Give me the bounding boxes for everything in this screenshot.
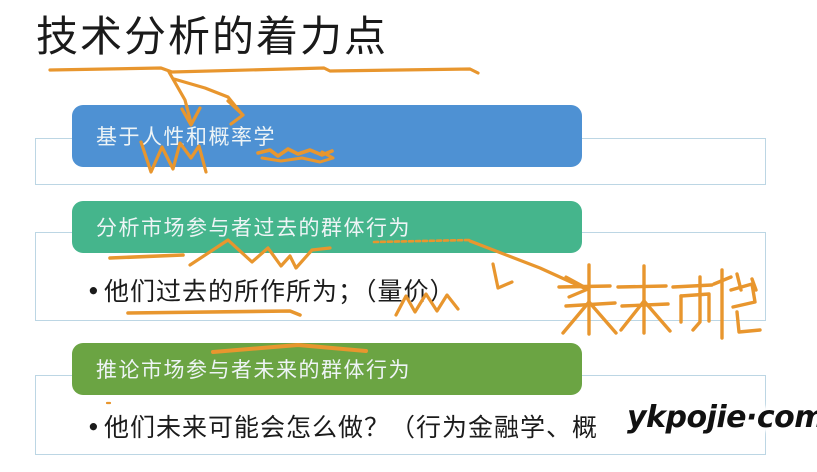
bullet-glyph: •	[86, 413, 104, 442]
page-title: 技术分析的着力点	[36, 10, 388, 64]
bullet-text-2: 他们未来可能会怎么做？（行为金融学、概	[104, 413, 598, 442]
bullet-item-2: •他们未来可能会怎么做？（行为金融学、概	[86, 408, 598, 444]
bullet-item-1: •他们过去的所作所为；（量价）	[86, 272, 456, 308]
banner-block-3: 推论市场参与者未来的群体行为	[72, 343, 582, 395]
bullet-text-1: 他们过去的所作所为；（量价）	[104, 277, 456, 306]
bullet-glyph: •	[86, 277, 104, 306]
banner-label-3: 推论市场参与者未来的群体行为	[72, 354, 411, 384]
banner-block-1: 基于人性和概率学	[72, 105, 582, 167]
banner-block-2: 分析市场参与者过去的群体行为	[72, 201, 582, 253]
title-underline-mark	[50, 68, 478, 73]
site-watermark: ykpojie·com	[627, 400, 817, 435]
banner-label-2: 分析市场参与者过去的群体行为	[72, 212, 411, 242]
slide-canvas: 技术分析的着力点 基于人性和概率学 分析市场参与者过去的群体行为 •他们过去的所…	[0, 0, 817, 472]
banner-label-1: 基于人性和概率学	[72, 121, 276, 151]
